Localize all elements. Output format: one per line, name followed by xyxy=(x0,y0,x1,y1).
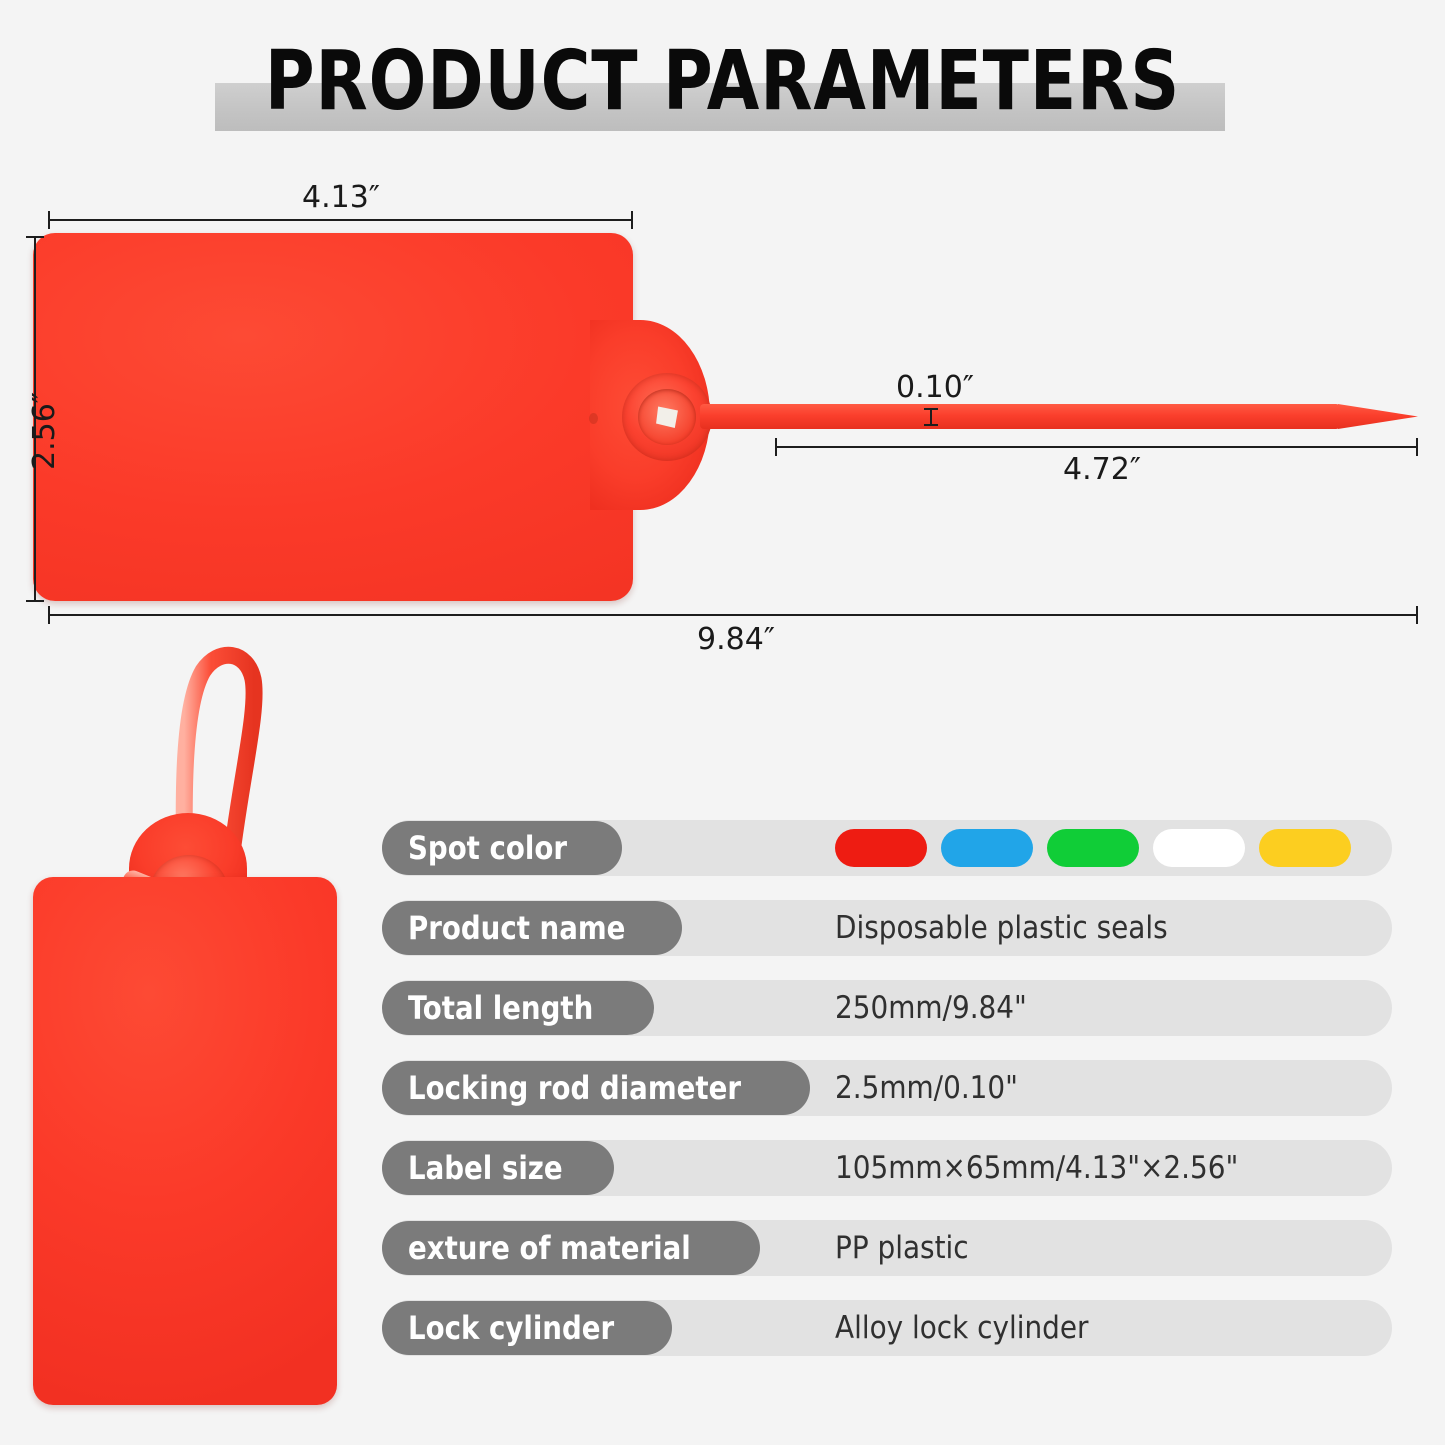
seal-strap-tip xyxy=(1338,404,1418,429)
table-row: Total length 250mm/9.84" xyxy=(382,980,1392,1036)
swatch-red[interactable] xyxy=(835,829,927,867)
spec-value-texture-of-material: PP plastic xyxy=(835,1220,969,1276)
spec-label-locking-rod-diameter: Locking rod diameter xyxy=(382,1061,810,1115)
seal-label-card xyxy=(33,233,633,601)
table-row: Lock cylinder Alloy lock cylinder xyxy=(382,1300,1392,1356)
dimension-label-strap-length: 4.72″ xyxy=(1063,452,1141,487)
table-row: Locking rod diameter 2.5mm/0.10" xyxy=(382,1060,1392,1116)
spec-label-text: Lock cylinder xyxy=(408,1309,614,1347)
spec-label-text: Locking rod diameter xyxy=(408,1069,741,1107)
dimension-line-label-width xyxy=(48,219,633,221)
dimension-label-width: 4.13″ xyxy=(302,180,380,215)
spec-label-total-length: Total length xyxy=(382,981,654,1035)
lock-housing xyxy=(622,373,712,461)
seal-strap xyxy=(700,404,1340,429)
dimension-label-rod-diameter: 0.10″ xyxy=(896,370,974,405)
spec-value-product-name: Disposable plastic seals xyxy=(835,900,1168,956)
table-row: Product name Disposable plastic seals xyxy=(382,900,1392,956)
seal-bottom-illustration xyxy=(33,645,343,1407)
swatch-blue[interactable] xyxy=(941,829,1033,867)
dimension-label-height: 2.56″ xyxy=(27,392,62,470)
table-row: Label size 105mm×65mm/4.13"×2.56" xyxy=(382,1140,1392,1196)
spec-label-text: Label size xyxy=(408,1149,563,1187)
spec-value-locking-rod-diameter: 2.5mm/0.10" xyxy=(835,1060,1018,1116)
spec-label-spot-color: Spot color xyxy=(382,821,622,875)
dimension-line-total-length xyxy=(48,614,1418,616)
swatch-yellow[interactable] xyxy=(1259,829,1351,867)
swatch-green[interactable] xyxy=(1047,829,1139,867)
spec-label-texture-of-material: exture of material xyxy=(382,1221,760,1275)
infographic-canvas: PRODUCT PARAMETERS 4.13″ 2.56″ 0.10″ 4.7… xyxy=(0,0,1445,1445)
dimension-label-total-length: 9.84″ xyxy=(697,622,775,657)
spec-label-text: Total length xyxy=(408,989,593,1027)
spec-value-total-length: 250mm/9.84" xyxy=(835,980,1027,1036)
dimension-caliper-rod-diameter xyxy=(930,408,932,426)
spec-label-product-name: Product name xyxy=(382,901,682,955)
spec-label-label-size: Label size xyxy=(382,1141,614,1195)
page-title: PRODUCT PARAMETERS xyxy=(58,34,1387,129)
spec-label-lock-cylinder: Lock cylinder xyxy=(382,1301,672,1355)
table-row: exture of material PP plastic xyxy=(382,1220,1392,1276)
seal-surface-mark xyxy=(589,413,598,424)
spec-label-text: exture of material xyxy=(408,1229,691,1267)
spec-label-text: Spot color xyxy=(408,829,567,867)
table-row: Spot color xyxy=(382,820,1392,876)
spec-value-lock-cylinder: Alloy lock cylinder xyxy=(835,1300,1088,1356)
seal-top-illustration xyxy=(33,233,633,601)
spec-label-text: Product name xyxy=(408,909,625,947)
swatch-white[interactable] xyxy=(1153,829,1245,867)
seal-label-card-bottom xyxy=(33,877,337,1405)
spot-color-swatches xyxy=(835,820,1351,876)
spec-value-label-size: 105mm×65mm/4.13"×2.56" xyxy=(835,1140,1238,1196)
dimension-line-strap-length xyxy=(775,446,1418,448)
